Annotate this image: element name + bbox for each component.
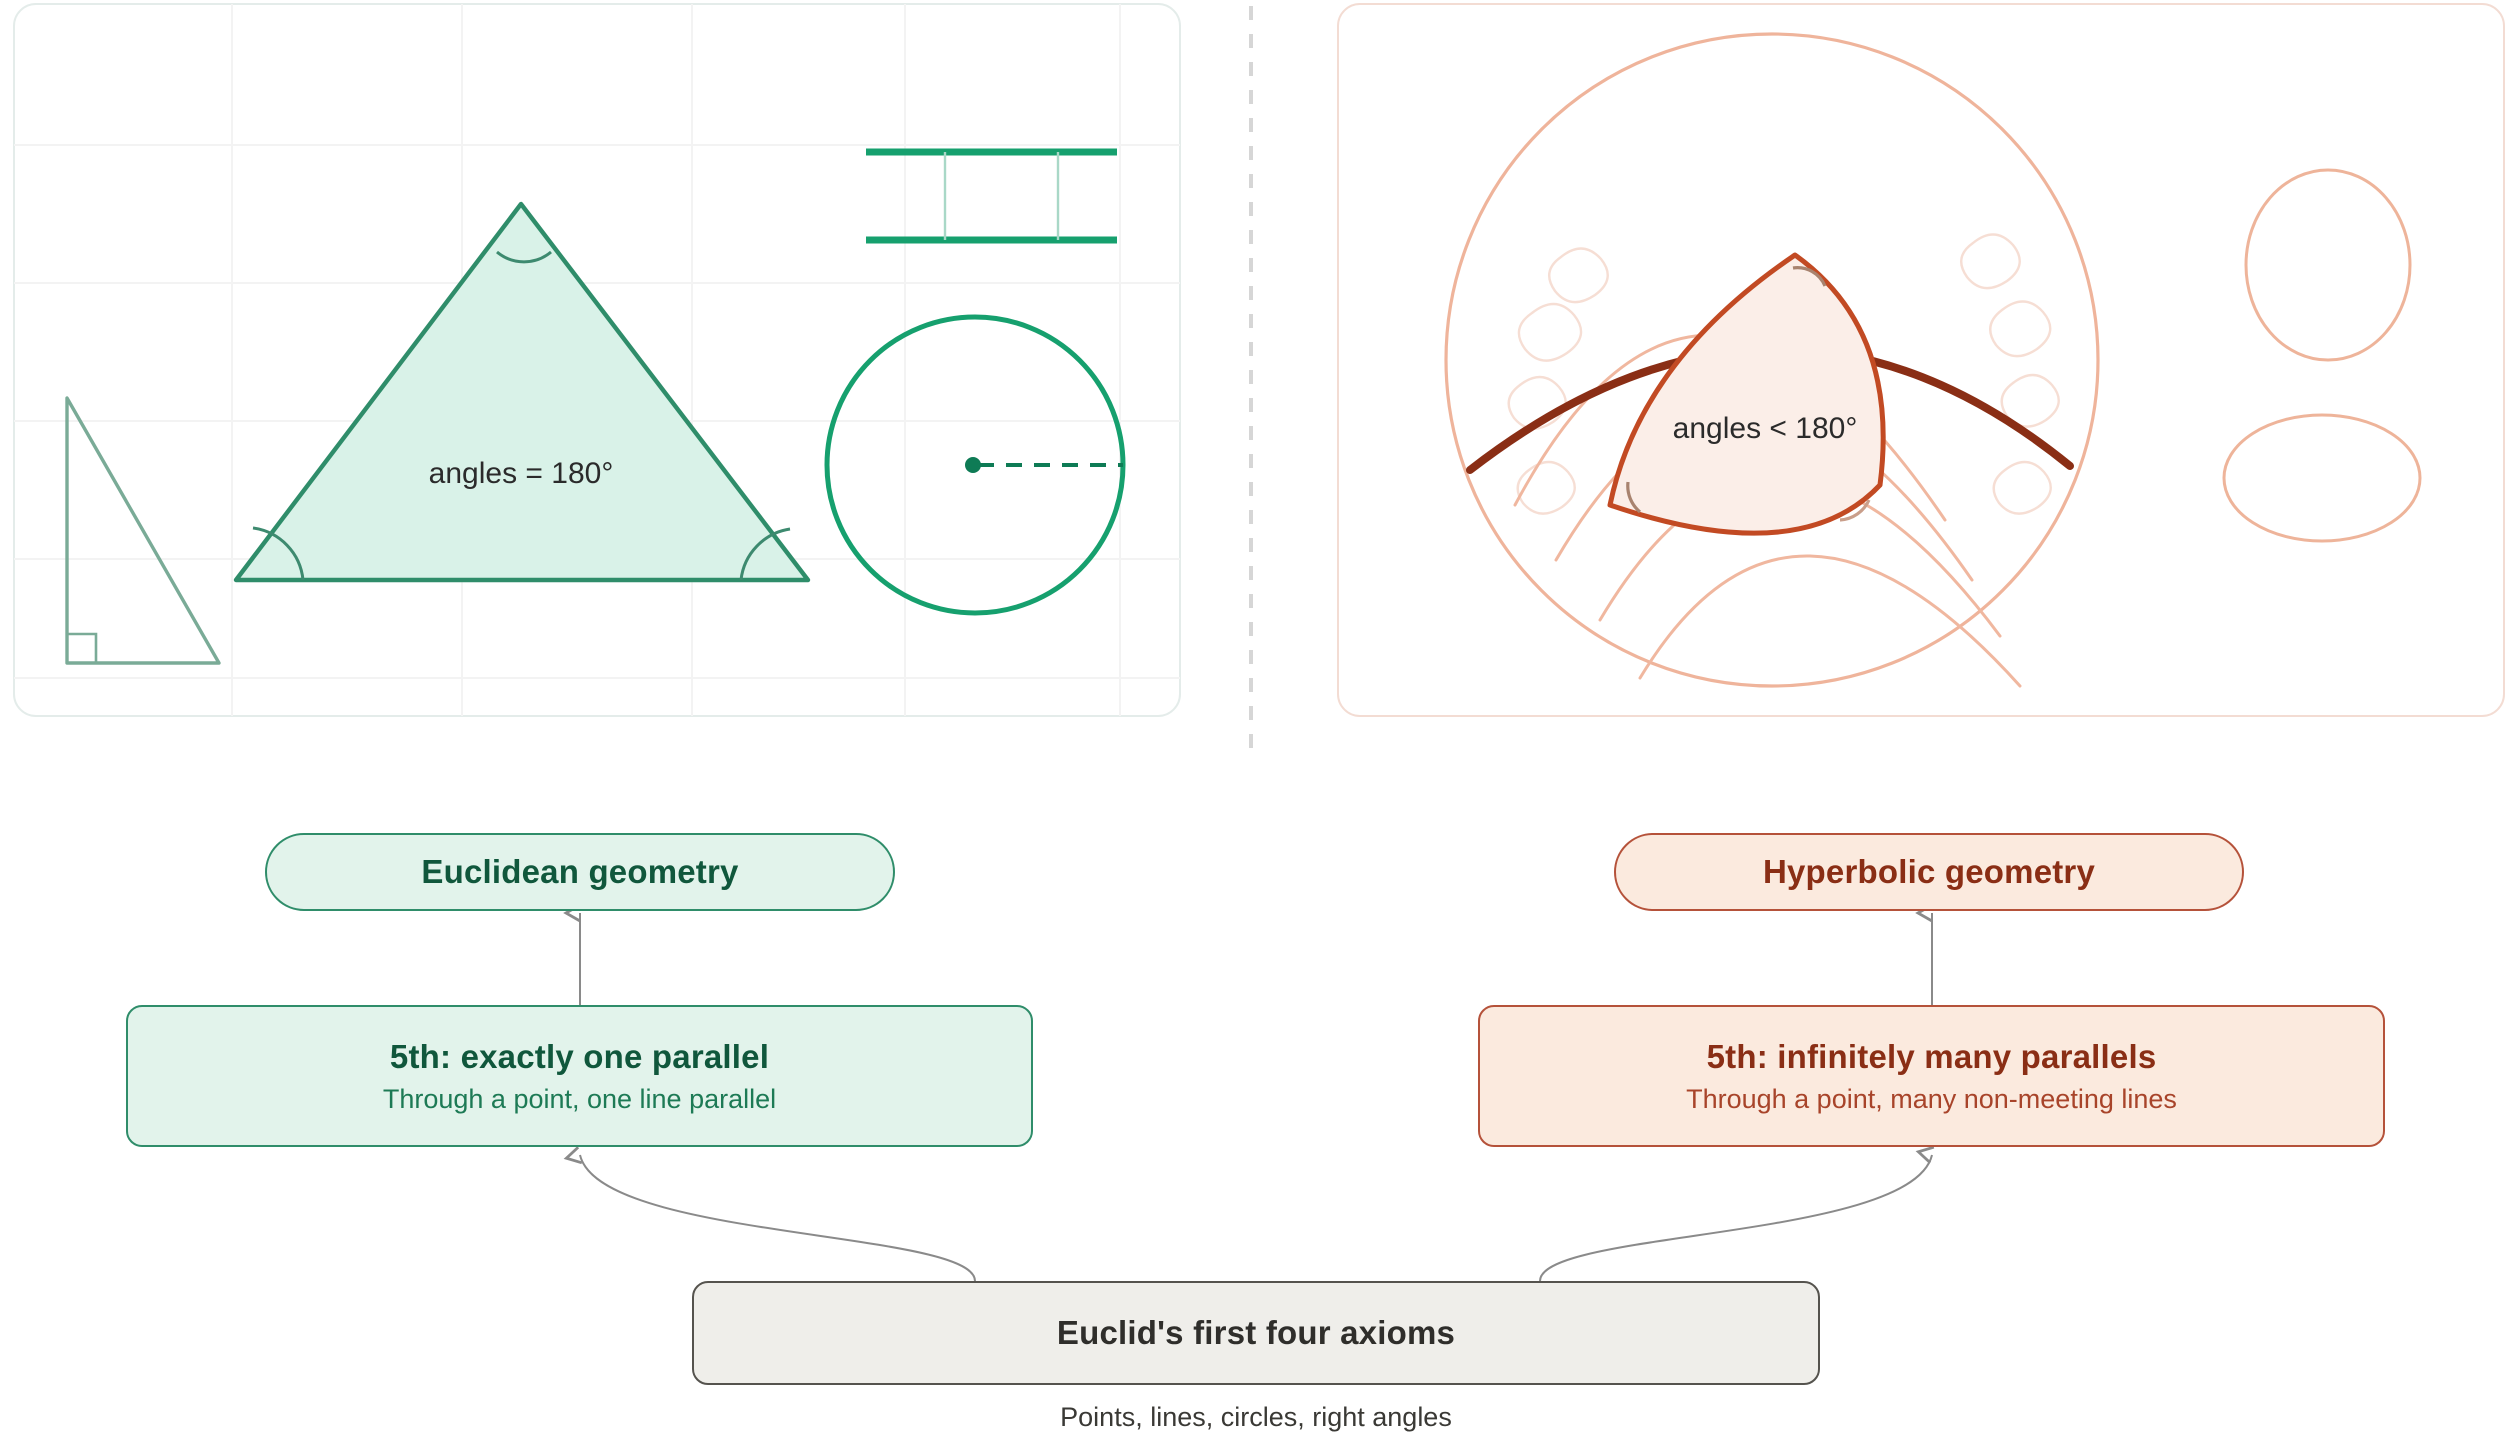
- euclid-angles-label: angles = 180°: [429, 457, 614, 490]
- node-euclid-fifth-postulate-title: 5th: exactly one parallel: [390, 1038, 769, 1076]
- connector-axioms-to-euclid: [580, 1155, 975, 1281]
- diagram-canvas: angles = 180°: [0, 0, 2512, 1454]
- diagram-stage: angles = 180°: [0, 0, 2512, 1454]
- diagram-root: angles = 180°: [0, 0, 2512, 1454]
- hyper-angles-label: angles < 180°: [1673, 412, 1858, 445]
- node-hyperbolic-fifth-postulate-subtitle: Through a point, many non-meeting lines: [1686, 1084, 2177, 1115]
- node-euclidean-geometry[interactable]: Euclidean geometry: [265, 833, 895, 911]
- node-euclid-fifth-postulate-subtitle: Through a point, one line parallel: [383, 1084, 776, 1115]
- node-euclid-first-four-axioms-title: Euclid's first four axioms: [1057, 1314, 1455, 1352]
- node-euclidean-geometry-title: Euclidean geometry: [421, 853, 738, 891]
- node-hyperbolic-geometry-title: Hyperbolic geometry: [1763, 853, 2095, 891]
- node-euclid-first-four-axioms[interactable]: Euclid's first four axioms: [692, 1281, 1820, 1385]
- euclidean-panel: angles = 180°: [14, 4, 1180, 716]
- connector-axioms-to-hyper: [1540, 1155, 1932, 1281]
- hyperbolic-panel: angles < 180°: [1338, 4, 2504, 716]
- node-hyperbolic-fifth-postulate-title: 5th: infinitely many parallels: [1707, 1038, 2157, 1076]
- axioms-caption: Points, lines, circles, right angles: [692, 1402, 1820, 1433]
- node-hyperbolic-geometry[interactable]: Hyperbolic geometry: [1614, 833, 2244, 911]
- node-hyperbolic-fifth-postulate[interactable]: 5th: infinitely many parallels Through a…: [1478, 1005, 2385, 1147]
- node-euclid-fifth-postulate[interactable]: 5th: exactly one parallel Through a poin…: [126, 1005, 1033, 1147]
